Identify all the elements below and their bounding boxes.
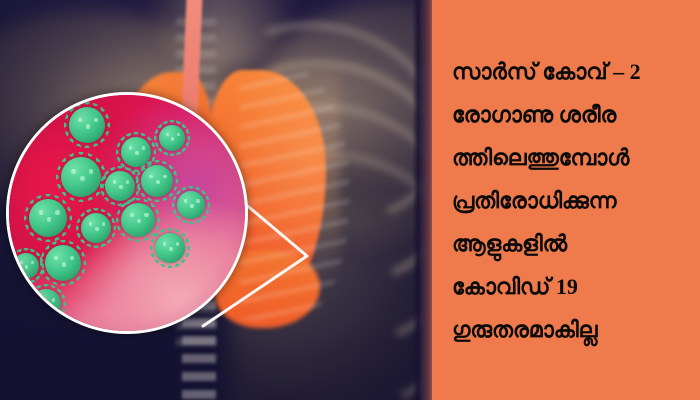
caption-line: സാർസ് കോവ് – 2 [452, 50, 700, 93]
magnifier-vignette [9, 95, 245, 331]
magnifier-circle [6, 92, 248, 334]
infographic-canvas: സാർസ് കോവ് – 2 രോഗാണു ശരീര ത്തിലെത്തുമ്പ… [0, 0, 700, 400]
caption-line: ത്തിലെത്തുമ്പോൾ [452, 136, 700, 179]
caption-panel: സാർസ് കോവ് – 2 രോഗാണു ശരീര ത്തിലെത്തുമ്പ… [432, 0, 700, 400]
caption-line: രോഗാണു ശരീര [452, 93, 700, 136]
caption-line: ആളുകളിൽ [452, 222, 700, 265]
caption-line: പ്രതിരോധിക്കുന്ന [452, 179, 700, 222]
medical-illustration [0, 0, 440, 400]
lung-rib-shadows [240, 70, 350, 320]
caption-line: ഗുരുതരമാകില്ല [452, 308, 700, 351]
caption-line: കോവിഡ് 19 [452, 265, 700, 308]
